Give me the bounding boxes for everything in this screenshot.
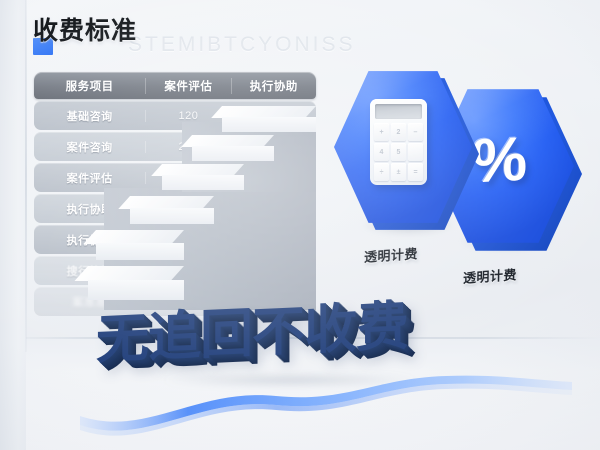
badge-label-percent: 透明计费 bbox=[463, 264, 517, 287]
left-wall-panel bbox=[0, 0, 26, 450]
poster-canvas: STEMIBTCYONISS 收费标准 服务项目 案件评估 执行协助 基础咨询 … bbox=[0, 0, 600, 450]
page-title-group: 收费标准 bbox=[33, 18, 137, 45]
page-title: 收费标准 bbox=[33, 18, 137, 45]
calculator-key: + bbox=[374, 123, 389, 141]
calculator-key: – bbox=[408, 123, 423, 141]
calculator-display bbox=[375, 104, 422, 119]
stair-step bbox=[130, 196, 214, 224]
stair-step bbox=[96, 230, 184, 260]
badge-calculator: + 2 – 4 5 ÷ ± = bbox=[334, 68, 482, 238]
calculator-keypad: + 2 – 4 5 ÷ ± = bbox=[374, 123, 423, 181]
decorative-wave-ribbon bbox=[76, 368, 576, 438]
staircase-3d bbox=[96, 104, 328, 309]
column-header-enforcement: 执行协助 bbox=[231, 78, 316, 94]
calculator-key: = bbox=[408, 163, 423, 181]
stair-step bbox=[192, 135, 274, 161]
calculator-key: ± bbox=[391, 163, 406, 181]
calculator-key bbox=[408, 143, 423, 161]
calculator-key: 4 bbox=[374, 143, 389, 161]
stair-step-base bbox=[88, 266, 184, 300]
calculator-key: ÷ bbox=[374, 163, 389, 181]
calculator-key: 5 bbox=[391, 143, 406, 161]
left-wall-edge bbox=[25, 0, 27, 352]
watermark-text: STEMIBTCYONISS bbox=[128, 33, 356, 57]
column-header-assessment: 案件评估 bbox=[145, 78, 230, 94]
badge-label-calculator: 透明计费 bbox=[364, 243, 418, 266]
column-header-service: 服务项目 bbox=[34, 78, 145, 94]
table-header-row: 服务项目 案件评估 执行协助 bbox=[34, 72, 316, 99]
calculator-icon: + 2 – 4 5 ÷ ± = bbox=[370, 99, 427, 185]
stair-step bbox=[222, 106, 316, 132]
stair-step bbox=[162, 164, 244, 190]
calculator-key: 2 bbox=[391, 123, 406, 141]
